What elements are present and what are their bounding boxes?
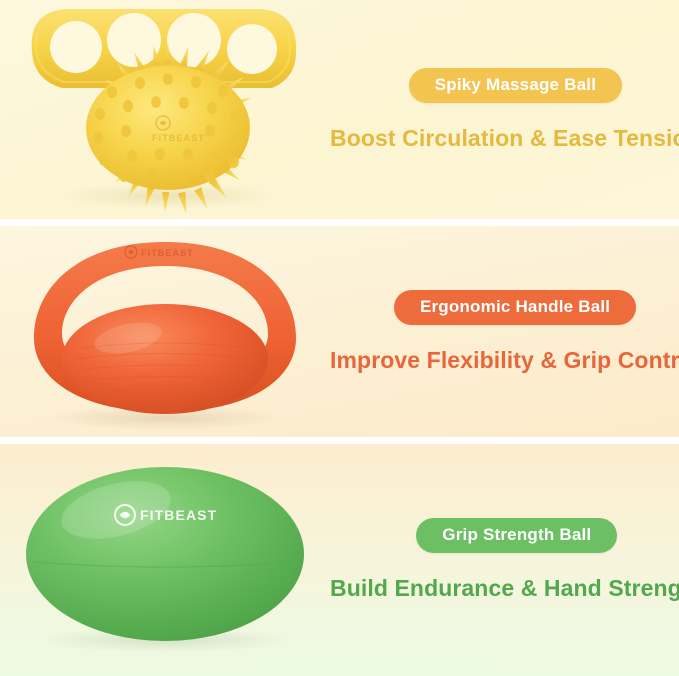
ergonomic-handle-ball-illustration: FITBEAST [0, 226, 330, 437]
panel-grip-strength-ball: FITBEAST Grip Strength Ball Build Endura… [0, 444, 679, 676]
panel-ergonomic-handle-ball: FITBEAST Ergonomic Handle Ball Improve F… [0, 226, 679, 437]
subtitle-grip-strength-ball: Build Endurance & Hand Strength [330, 575, 679, 602]
handle-ball-body [62, 304, 268, 414]
brand-label-grip: FITBEAST [140, 507, 217, 523]
text-block-spiky-massage-ball: Spiky Massage Ball Boost Circulation & E… [330, 68, 679, 152]
product-image-ergonomic-handle-ball: FITBEAST [0, 226, 330, 437]
badge-ergonomic-handle-ball: Ergonomic Handle Ball [394, 290, 636, 325]
panel-spiky-massage-ball: FITBEAST Spiky Massage Ball Boost Circul… [0, 0, 679, 219]
brand-label-handle: FITBEAST [141, 248, 194, 258]
product-image-spiky-massage-ball: FITBEAST [0, 0, 330, 219]
grip-strength-ball-illustration: FITBEAST [0, 444, 330, 676]
brand-label-spiky: FITBEAST [152, 133, 205, 143]
badge-grip-strength-ball: Grip Strength Ball [416, 518, 617, 553]
spiky-massage-ball-illustration: FITBEAST [0, 0, 330, 219]
product-image-grip-strength-ball: FITBEAST [0, 444, 330, 676]
product-infographic: FITBEAST Spiky Massage Ball Boost Circul… [0, 0, 679, 676]
subtitle-spiky-massage-ball: Boost Circulation & Ease Tension [330, 125, 679, 152]
panel-divider-2 [0, 437, 679, 444]
panel-divider-1 [0, 219, 679, 226]
text-block-ergonomic-handle-ball: Ergonomic Handle Ball Improve Flexibilit… [330, 290, 679, 374]
badge-spiky-massage-ball: Spiky Massage Ball [409, 68, 622, 103]
subtitle-ergonomic-handle-ball: Improve Flexibility & Grip Control [330, 347, 679, 374]
text-block-grip-strength-ball: Grip Strength Ball Build Endurance & Han… [330, 518, 679, 602]
